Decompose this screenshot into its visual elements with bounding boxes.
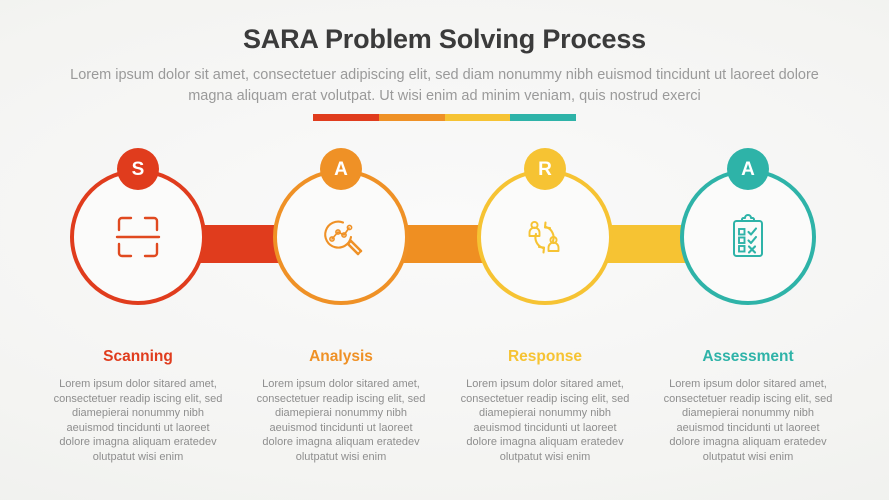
accent-segment-2: [379, 114, 445, 121]
magnifier-data-icon: [311, 207, 371, 267]
clipboard-checklist-icon: [718, 207, 778, 267]
infographic-slide: SARA Problem Solving Process Lorem ipsum…: [0, 0, 889, 500]
step-label-response: Response: [443, 348, 647, 366]
process-node-assessment[interactable]: A: [680, 169, 816, 305]
step-badge-r: R: [524, 148, 566, 190]
step-badge-s: S: [117, 148, 159, 190]
process-node-analysis[interactable]: A: [273, 169, 409, 305]
page-title: SARA Problem Solving Process: [0, 22, 889, 56]
page-subtitle: Lorem ipsum dolor sit amet, consectetuer…: [60, 65, 830, 107]
connector-analysis-response: [401, 225, 485, 263]
connector-response-assessment: [605, 225, 688, 263]
process-node-scanning[interactable]: S: [70, 169, 206, 305]
step-label-assessment: Assessment: [646, 348, 850, 366]
step-body-assessment: Lorem ipsum dolor sitared amet, consecte…: [660, 377, 836, 465]
process-node-response[interactable]: R: [477, 169, 613, 305]
description-column-response: Response Lorem ipsum dolor sitared amet,…: [443, 348, 647, 465]
step-label-scanning: Scanning: [36, 348, 240, 366]
step-body-response: Lorem ipsum dolor sitared amet, consecte…: [457, 377, 633, 465]
step-body-scanning: Lorem ipsum dolor sitared amet, consecte…: [50, 377, 226, 465]
step-badge-a1: A: [320, 148, 362, 190]
description-column-assessment: Assessment Lorem ipsum dolor sitared ame…: [646, 348, 850, 465]
step-badge-a2: A: [727, 148, 769, 190]
people-exchange-icon: [515, 207, 575, 267]
accent-color-bar: [313, 114, 576, 121]
step-descriptions: Scanning Lorem ipsum dolor sitared amet,…: [0, 348, 889, 488]
description-column-scanning: Scanning Lorem ipsum dolor sitared amet,…: [36, 348, 240, 465]
description-column-analysis: Analysis Lorem ipsum dolor sitared amet,…: [239, 348, 443, 465]
step-body-analysis: Lorem ipsum dolor sitared amet, consecte…: [253, 377, 429, 465]
accent-segment-1: [313, 114, 379, 121]
accent-segment-3: [445, 114, 511, 121]
process-diagram: S A: [0, 150, 889, 330]
scan-frame-icon: [108, 207, 168, 267]
header: SARA Problem Solving Process Lorem ipsum…: [0, 22, 889, 107]
connector-scanning-analysis: [198, 225, 281, 263]
accent-segment-4: [510, 114, 576, 121]
step-label-analysis: Analysis: [239, 348, 443, 366]
